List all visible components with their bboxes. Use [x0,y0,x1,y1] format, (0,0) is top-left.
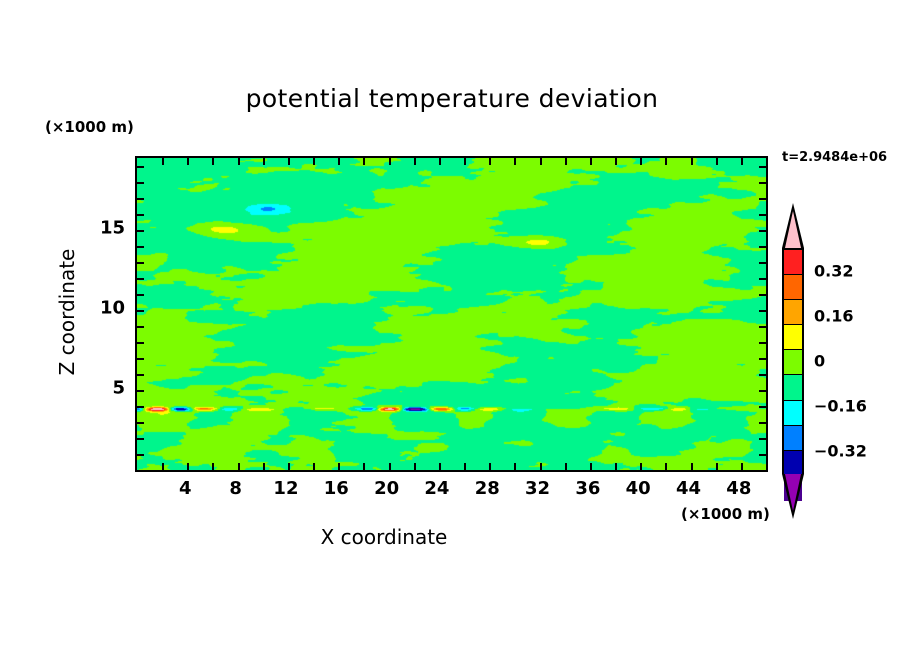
x-tick-top [640,156,642,165]
x-tick-label: 4 [179,478,192,499]
colorbar-band [784,426,802,451]
y-tick-right [759,326,768,328]
x-tick-top [439,156,441,165]
y-tick-right [759,262,768,264]
x-tick-top [389,156,391,165]
x-tick [489,463,491,472]
x-tick [238,463,240,472]
x-tick-top [489,156,491,165]
y-tick [135,342,144,344]
x-tick [615,463,617,472]
x-tick-top [590,156,592,165]
x-tick-label: 20 [374,478,399,499]
x-tick [389,463,391,472]
y-tick [135,438,144,440]
y-tick [135,454,144,456]
time-annotation: t=2.9484e+06 [782,150,887,165]
y-tick [135,278,144,280]
y-tick [135,422,144,424]
contour-field-canvas [137,158,766,470]
colorbar-band [784,350,802,375]
x-tick-top [162,156,164,165]
y-tick [135,214,144,216]
x-tick [313,463,315,472]
colorbar-band [784,325,802,350]
y-tick [135,358,144,360]
y-tick-right [759,166,768,168]
x-axis-unit-label: (×1000 m) [681,505,770,523]
contour-plot-area [135,156,768,472]
x-tick-top [665,156,667,165]
x-tick-top [313,156,315,165]
x-tick-top [691,156,693,165]
y-tick-right [759,310,768,312]
x-tick-top [187,156,189,165]
y-tick-right [759,214,768,216]
y-tick [135,326,144,328]
x-tick-top [716,156,718,165]
x-tick-top [565,156,567,165]
x-axis-title: X coordinate [0,525,768,549]
x-tick [540,463,542,472]
x-tick [212,463,214,472]
y-tick [135,230,144,232]
colorbar-band [784,401,802,426]
colorbar-over-arrow [785,211,801,248]
y-tick-right [759,406,768,408]
x-tick-label: 28 [475,478,500,499]
x-tick-label: 16 [324,478,349,499]
x-tick [691,463,693,472]
y-tick [135,310,144,312]
x-tick [565,463,567,472]
x-tick-top [363,156,365,165]
x-tick-top [741,156,743,165]
x-tick-label: 44 [676,478,701,499]
colorbar-tick-label: 0.32 [814,261,853,280]
y-tick-right [759,182,768,184]
x-tick-label: 24 [424,478,449,499]
y-tick [135,374,144,376]
colorbar-tick-label: −0.16 [814,397,867,416]
x-tick [640,463,642,472]
x-tick [741,463,743,472]
x-tick-label: 48 [726,478,751,499]
x-tick [187,463,189,472]
x-tick-top [540,156,542,165]
x-tick [162,463,164,472]
x-tick-top [464,156,466,165]
y-tick [135,246,144,248]
y-tick [135,390,144,392]
x-tick-label: 12 [273,478,298,499]
y-tick-right [759,374,768,376]
x-tick [288,463,290,472]
y-tick [135,198,144,200]
y-tick-right [759,358,768,360]
x-tick-top [615,156,617,165]
colorbar-band [784,375,802,400]
x-tick-top [414,156,416,165]
y-tick-right [759,438,768,440]
x-tick [590,463,592,472]
y-tick [135,406,144,408]
x-tick [414,463,416,472]
y-tick-right [759,278,768,280]
colorbar-under-arrow [785,474,801,511]
x-tick-top [263,156,265,165]
y-tick-right [759,454,768,456]
colorbar: 0.320.160−0.16−0.32 [778,203,808,519]
colorbar-band [784,451,802,476]
colorbar-bands [782,248,804,474]
colorbar-band [784,275,802,300]
z-axis-unit-label: (×1000 m) [45,118,134,136]
y-tick-right [759,230,768,232]
y-tick-label: 15 [85,218,125,239]
x-tick-label: 8 [229,478,242,499]
x-tick [263,463,265,472]
y-tick-right [759,342,768,344]
x-tick-top [514,156,516,165]
x-tick [363,463,365,472]
colorbar-tick-label: −0.32 [814,442,867,461]
x-tick [439,463,441,472]
x-tick-top [238,156,240,165]
x-tick-label: 32 [525,478,550,499]
x-tick-top [212,156,214,165]
x-tick [716,463,718,472]
y-axis-title: Z coordinate [55,182,79,442]
y-tick [135,262,144,264]
page-title: potential temperature deviation [0,84,904,113]
x-tick [665,463,667,472]
y-tick-right [759,198,768,200]
y-tick [135,182,144,184]
colorbar-band [784,300,802,325]
x-tick [464,463,466,472]
y-tick [135,166,144,168]
colorbar-tick-label: 0.16 [814,306,853,325]
x-tick-label: 40 [626,478,651,499]
y-tick-right [759,246,768,248]
y-tick [135,294,144,296]
x-tick-top [338,156,340,165]
colorbar-band [784,250,802,275]
colorbar-tick-label: 0 [814,352,825,371]
y-tick-right [759,294,768,296]
x-tick-top [288,156,290,165]
y-tick-right [759,422,768,424]
x-tick [514,463,516,472]
x-tick [338,463,340,472]
x-tick-label: 36 [575,478,600,499]
y-tick-right [759,390,768,392]
y-tick-label: 5 [85,378,125,399]
y-tick-label: 10 [85,298,125,319]
